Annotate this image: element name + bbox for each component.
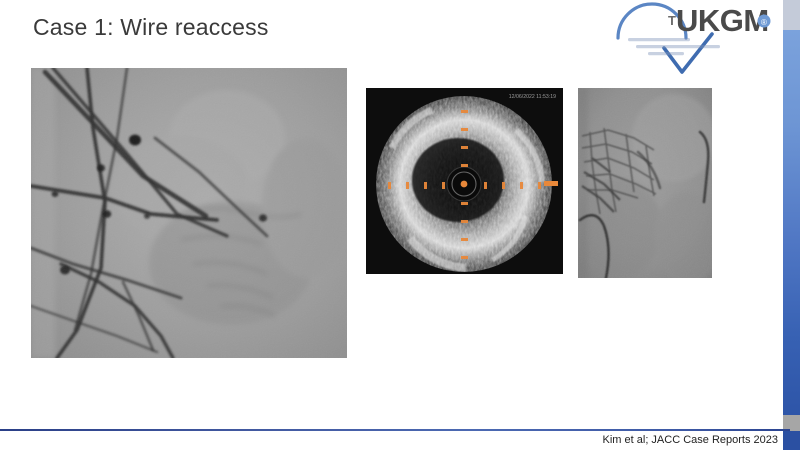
svg-text:T: T bbox=[668, 13, 676, 28]
ivus-timestamp: 12/06/2022 11:53:19 bbox=[509, 94, 556, 100]
presentation-slide: Case 1: Wire reaccess T UKGM ® bbox=[0, 0, 800, 450]
edge-bar-top-segment bbox=[783, 0, 800, 30]
edge-bar-gradient-segment bbox=[783, 30, 800, 415]
edge-bar-bottom-segment bbox=[783, 431, 800, 450]
svg-text:®: ® bbox=[761, 18, 767, 27]
ivus-cross-section: 12/06/2022 11:53:19 bbox=[366, 88, 563, 274]
page-title: Case 1: Wire reaccess bbox=[33, 12, 553, 42]
angiogram-left bbox=[31, 68, 347, 358]
footer-citation: Kim et al; JACC Case Reports 2023 bbox=[603, 432, 778, 448]
svg-text:UKGM: UKGM bbox=[676, 3, 769, 38]
footer-divider bbox=[0, 429, 790, 431]
right-edge-accent-bar bbox=[783, 0, 800, 450]
angiogram-right bbox=[578, 88, 712, 278]
ukgm-logo: T UKGM ® bbox=[612, 0, 778, 76]
